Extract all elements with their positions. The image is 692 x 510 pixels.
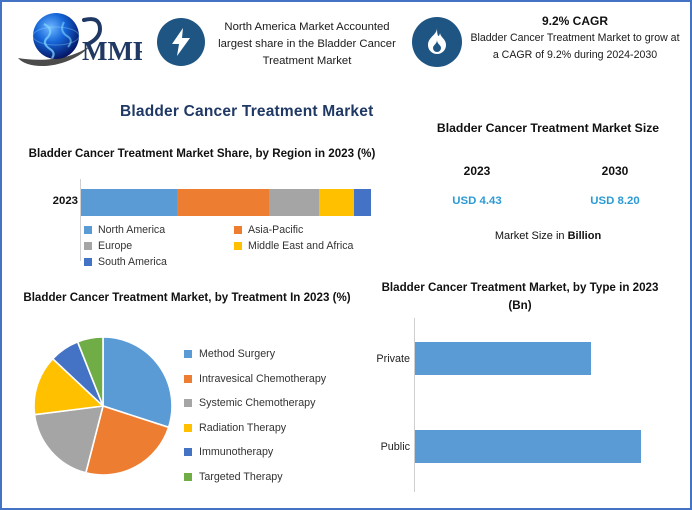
region-legend-label: Asia-Pacific	[248, 224, 303, 236]
legend-swatch-icon	[184, 424, 192, 432]
market-size-value-start: USD 4.43	[422, 195, 532, 207]
pie-graphic	[32, 335, 174, 477]
legend-row: EuropeMiddle East and Africa	[84, 238, 384, 254]
pie-legend-label: Immunotherapy	[199, 446, 273, 458]
pie-legend-label: Method Surgery	[199, 348, 275, 360]
pie-legend-item-4: Immunotherapy	[184, 440, 364, 465]
legend-swatch-icon	[184, 399, 192, 407]
region-legend-item-2: Europe	[84, 240, 234, 252]
legend-swatch-icon	[84, 242, 92, 250]
market-size-title: Bladder Cancer Treatment Market Size	[412, 120, 684, 137]
legend-swatch-icon	[84, 226, 92, 234]
region-segment-2	[269, 189, 318, 216]
legend-row: North AmericaAsia-Pacific	[84, 222, 384, 238]
region-legend-item-0: North America	[84, 224, 234, 236]
pie-legend-label: Radiation Therapy	[199, 422, 286, 434]
market-size-year-start: 2023	[422, 164, 532, 178]
market-size-value-end: USD 8.20	[560, 195, 670, 207]
pie-legend: Method SurgeryIntravesical ChemotherapyS…	[184, 342, 364, 489]
logo-text: MMR	[82, 36, 142, 66]
globe-icon	[33, 13, 79, 59]
market-size-panel: Bladder Cancer Treatment Market Size 202…	[412, 120, 684, 260]
legend-swatch-icon	[184, 350, 192, 358]
cagr-callout: 9.2% CAGR Bladder Cancer Treatment Marke…	[468, 13, 682, 63]
region-share-chart: Bladder Cancer Treatment Market Share, b…	[14, 142, 394, 284]
type-category-private: Private	[362, 353, 410, 365]
region-legend-item-1: Asia-Pacific	[234, 224, 303, 236]
pie-legend-item-0: Method Surgery	[184, 342, 364, 367]
lightning-bolt-icon	[157, 18, 205, 66]
legend-swatch-icon	[184, 473, 192, 481]
pie-chart-title: Bladder Cancer Treatment Market, by Trea…	[22, 289, 352, 307]
region-legend-label: Middle East and Africa	[248, 240, 353, 252]
region-legend-item-3: Middle East and Africa	[234, 240, 353, 252]
market-size-unit-bold: Billion	[568, 230, 602, 242]
region-segment-3	[319, 189, 354, 216]
page-title: Bladder Cancer Treatment Market	[120, 103, 520, 121]
region-segment-1	[177, 189, 270, 216]
infographic-canvas: MMR North America Market Accounted large…	[0, 0, 692, 510]
region-chart-title: Bladder Cancer Treatment Market Share, b…	[24, 145, 380, 163]
legend-swatch-icon	[184, 448, 192, 456]
region-legend-item-4: South America	[84, 256, 234, 268]
legend-row: South America	[84, 254, 384, 270]
region-legend-label: North America	[98, 224, 165, 236]
cagr-value: 9.2% CAGR	[468, 13, 682, 30]
treatment-share-chart: Bladder Cancer Treatment Market, by Trea…	[14, 287, 364, 502]
region-stacked-bar	[81, 189, 371, 216]
type-bar-public	[415, 430, 641, 463]
legend-swatch-icon	[184, 375, 192, 383]
region-segment-4	[354, 189, 371, 216]
type-bar-private	[415, 342, 591, 375]
region-legend-label: South America	[98, 256, 167, 268]
legend-swatch-icon	[84, 258, 92, 266]
legend-swatch-icon	[234, 242, 242, 250]
type-category-public: Public	[362, 441, 410, 453]
flame-icon	[412, 17, 462, 67]
pie-legend-item-3: Radiation Therapy	[184, 416, 364, 441]
pie-legend-label: Targeted Therapy	[199, 471, 283, 483]
region-legend: North AmericaAsia-PacificEuropeMiddle Ea…	[84, 222, 384, 270]
pie-legend-item-5: Targeted Therapy	[184, 465, 364, 490]
pie-legend-label: Systemic Chemotherapy	[199, 397, 315, 409]
type-share-chart: Bladder Cancer Treatment Market, by Type…	[360, 277, 690, 505]
region-category-label: 2023	[24, 195, 78, 207]
pie-legend-item-1: Intravesical Chemotherapy	[184, 367, 364, 392]
type-chart-title: Bladder Cancer Treatment Market, by Type…	[370, 279, 670, 315]
header-band: MMR North America Market Accounted large…	[2, 2, 690, 94]
market-size-year-end: 2030	[560, 164, 670, 178]
market-size-unit: Market Size in Billion	[412, 230, 684, 242]
legend-swatch-icon	[234, 226, 242, 234]
pie-legend-item-2: Systemic Chemotherapy	[184, 391, 364, 416]
mmr-logo: MMR	[14, 10, 142, 72]
pie-legend-label: Intravesical Chemotherapy	[199, 373, 326, 385]
north-america-callout: North America Market Accounted largest s…	[212, 19, 402, 70]
market-size-unit-prefix: Market Size in	[495, 230, 568, 242]
cagr-description: Bladder Cancer Treatment Market to grow …	[468, 30, 682, 63]
region-legend-label: Europe	[98, 240, 132, 252]
region-segment-0	[81, 189, 177, 216]
